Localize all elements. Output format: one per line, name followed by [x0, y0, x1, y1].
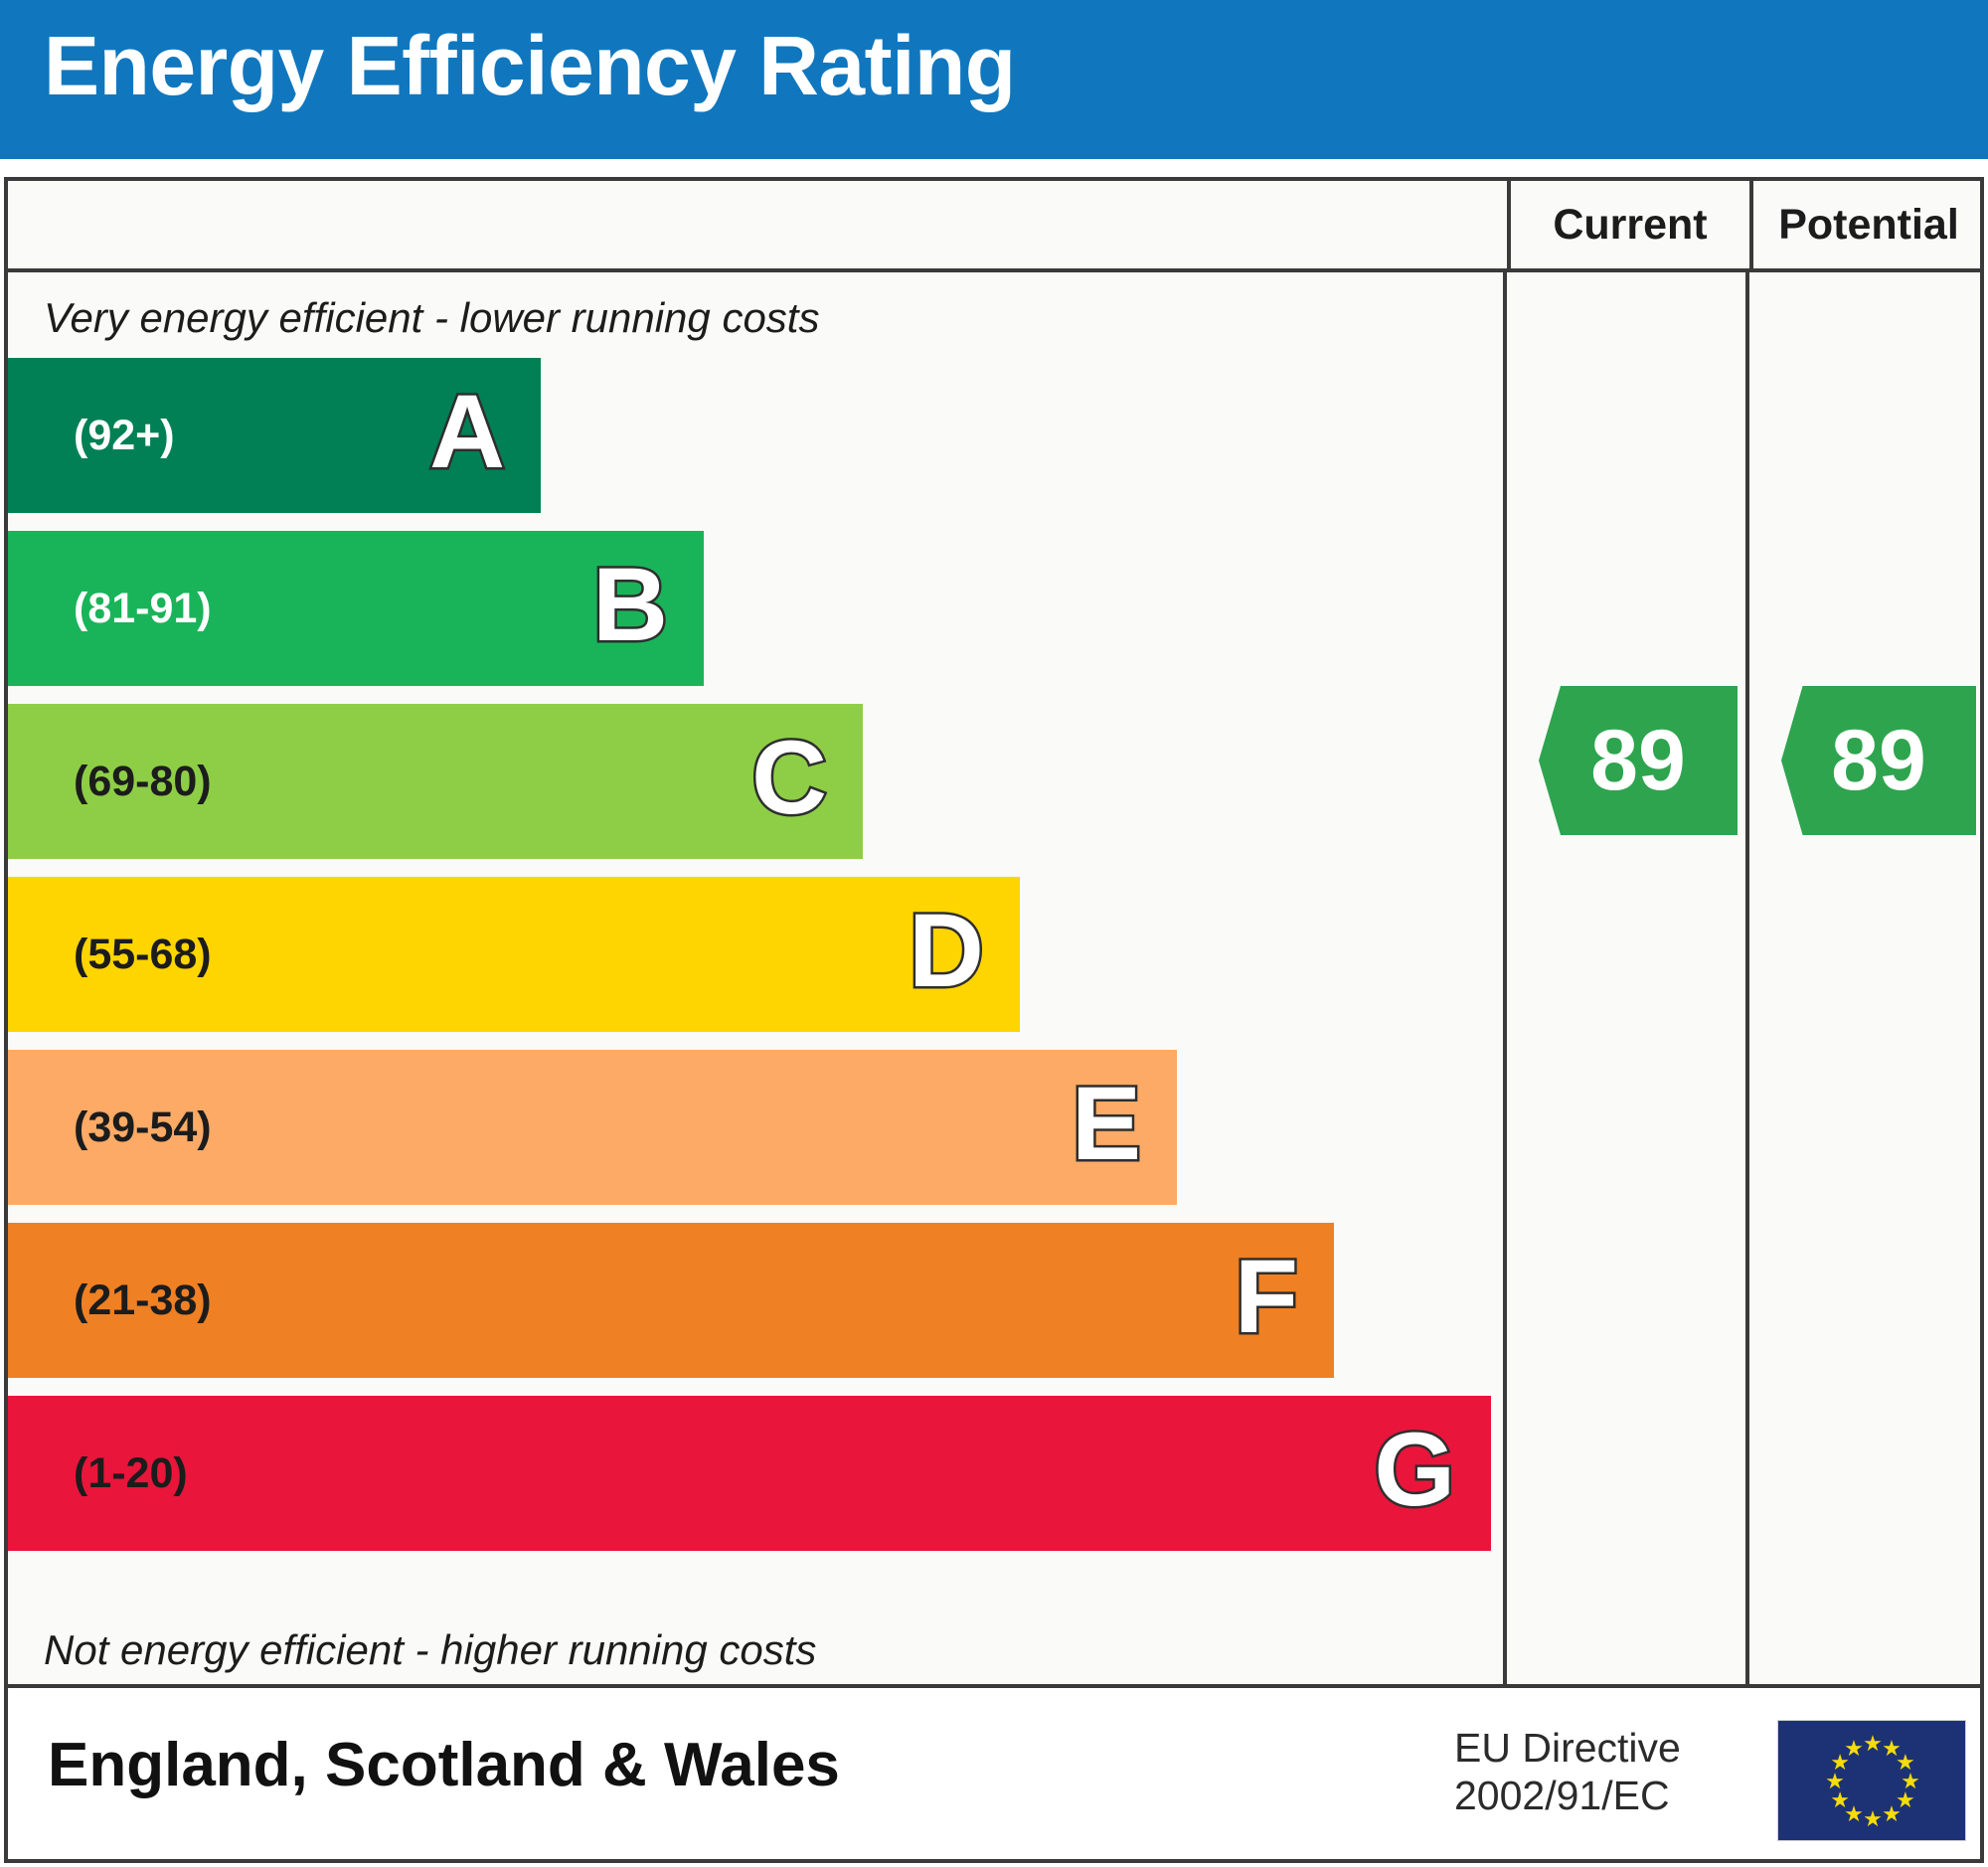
eu-flag-icon: ★★★★★★★★★★★★	[1777, 1720, 1966, 1841]
band-letter-f: F	[1235, 1245, 1298, 1349]
band-row-e: (39-54)E	[8, 1050, 1177, 1205]
band-range-d: (55-68)	[74, 931, 212, 979]
rating-table: Current Potential Very energy efficient …	[4, 177, 1984, 1688]
eu-star-icon: ★	[1844, 1738, 1864, 1760]
caption-inefficient: Not energy efficient - higher running co…	[44, 1626, 816, 1674]
band-letter-d: D	[909, 899, 984, 1003]
badge-current-rating: 89	[1539, 686, 1738, 835]
band-range-g: (1-20)	[74, 1449, 188, 1498]
column-divider-current	[1503, 272, 1507, 1688]
column-header-row: Current Potential	[8, 181, 1980, 272]
column-header-potential: Potential	[1749, 181, 1984, 268]
footer: England, Scotland & Wales EU Directive 2…	[4, 1688, 1984, 1863]
band-row-d: (55-68)D	[8, 877, 1020, 1032]
band-range-c: (69-80)	[74, 758, 212, 806]
band-range-a: (92+)	[74, 412, 175, 460]
footer-region-label: England, Scotland & Wales	[48, 1730, 840, 1800]
band-letter-b: B	[592, 553, 668, 657]
band-range-f: (21-38)	[74, 1276, 212, 1325]
band-range-e: (39-54)	[74, 1103, 212, 1152]
directive-line-2: 2002/91/EC	[1454, 1772, 1681, 1819]
band-row-b: (81-91)B	[8, 531, 704, 686]
band-row-f: (21-38)F	[8, 1223, 1334, 1378]
band-row-c: (69-80)C	[8, 704, 863, 859]
energy-efficiency-certificate: Energy Efficiency Rating Current Potenti…	[0, 0, 1988, 1867]
column-divider-potential	[1745, 272, 1749, 1688]
band-row-g: (1-20)G	[8, 1396, 1491, 1551]
band-letter-c: C	[751, 726, 827, 830]
page-title: Energy Efficiency Rating	[44, 18, 1016, 114]
eu-star-icon: ★	[1882, 1803, 1902, 1825]
band-range-b: (81-91)	[74, 585, 212, 633]
band-letter-g: G	[1374, 1418, 1455, 1522]
title-bar: Energy Efficiency Rating	[0, 0, 1988, 159]
band-row-a: (92+)A	[8, 358, 541, 513]
caption-efficient: Very energy efficient - lower running co…	[44, 294, 819, 342]
eu-star-icon: ★	[1863, 1808, 1883, 1830]
eu-star-icon: ★	[1863, 1733, 1883, 1755]
band-letter-a: A	[429, 380, 505, 484]
badge-potential-rating: 89	[1781, 686, 1976, 835]
column-header-current: Current	[1507, 181, 1749, 268]
directive-line-1: EU Directive	[1454, 1724, 1681, 1772]
footer-directive: EU Directive 2002/91/EC	[1454, 1724, 1681, 1820]
bands-area: Very energy efficient - lower running co…	[8, 272, 1503, 1688]
band-letter-e: E	[1072, 1072, 1141, 1176]
